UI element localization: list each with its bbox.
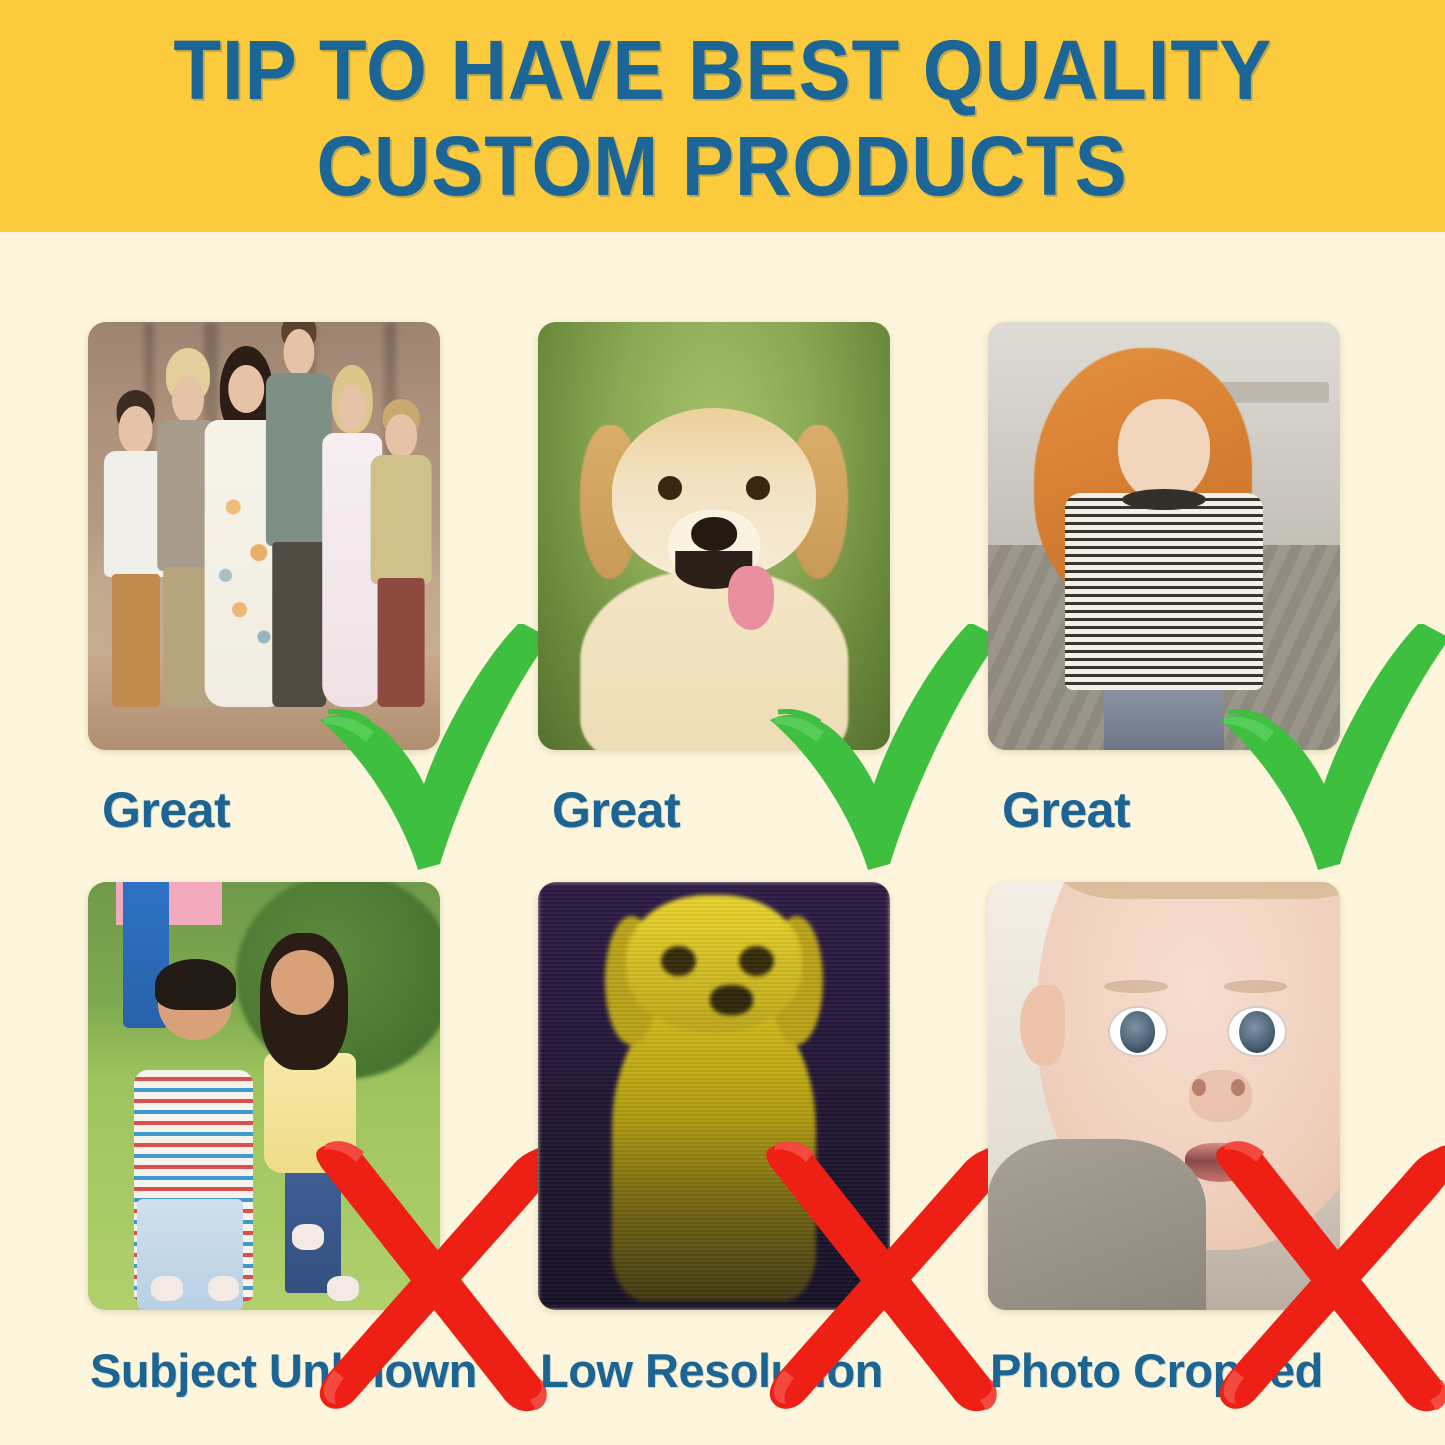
family-portrait-photo xyxy=(88,322,440,750)
verdict-label: Photo Cropped xyxy=(988,1343,1323,1398)
example-card-photo-cropped: Photo Cropped xyxy=(988,882,1348,1416)
caption-row-redhead-woman: Great xyxy=(988,764,1348,856)
banner-title-line-1: TIP TO HAVE BEST QUALITY xyxy=(173,28,1272,114)
verdict-label: Great xyxy=(88,781,230,839)
caption-row-golden-retriever: Great xyxy=(538,764,898,856)
verdict-label: Low Resolution xyxy=(538,1343,883,1398)
example-card-golden-retriever: Great xyxy=(538,322,898,856)
header-banner: TIP TO HAVE BEST QUALITY CUSTOM PRODUCTS xyxy=(0,0,1445,232)
example-card-subject-unknown: Subject Unknown xyxy=(88,882,448,1416)
golden-retriever-photo xyxy=(538,322,890,750)
examples-grid: Great xyxy=(0,232,1445,1445)
banner-title-line-2: CUSTOM PRODUCTS xyxy=(317,124,1128,210)
example-card-family-portrait: Great xyxy=(88,322,448,856)
verdict-label: Great xyxy=(988,781,1130,839)
caption-row-family-portrait: Great xyxy=(88,764,448,856)
caption-row-low-resolution: Low Resolution xyxy=(538,1324,898,1416)
low-resolution-dog-photo xyxy=(538,882,890,1310)
verdict-label: Subject Unknown xyxy=(88,1343,477,1398)
caption-row-photo-cropped: Photo Cropped xyxy=(988,1324,1348,1416)
caption-row-subject-unknown: Subject Unknown xyxy=(88,1324,448,1416)
redhead-woman-photo xyxy=(988,322,1340,750)
verdict-label: Great xyxy=(538,781,680,839)
example-card-low-resolution: Low Resolution xyxy=(538,882,898,1416)
cropped-baby-photo xyxy=(988,882,1340,1310)
example-card-redhead-woman: Great xyxy=(988,322,1348,856)
children-playing-photo xyxy=(88,882,440,1310)
